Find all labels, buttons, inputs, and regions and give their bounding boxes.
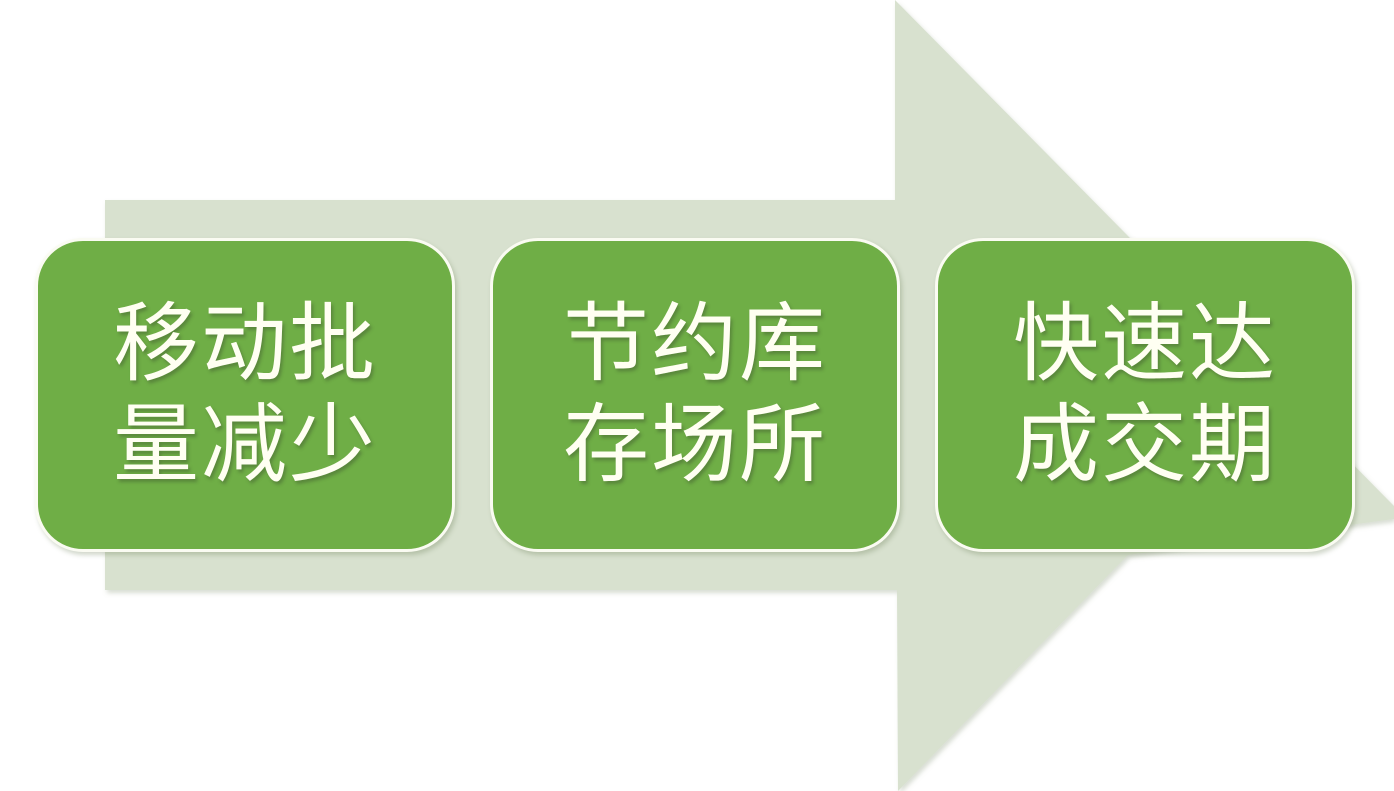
step-box-1-label: 移动批 量减少 — [113, 294, 377, 497]
step-box-1[interactable]: 移动批 量减少 — [35, 238, 455, 552]
step-box-3-label: 快速达 成交期 — [1013, 294, 1277, 497]
step-box-2[interactable]: 节约库 存场所 — [490, 238, 900, 552]
diagram-canvas: 移动批 量减少 节约库 存场所 快速达 成交期 — [0, 0, 1394, 791]
step-boxes: 移动批 量减少 节约库 存场所 快速达 成交期 — [0, 0, 1394, 791]
step-box-3[interactable]: 快速达 成交期 — [935, 238, 1355, 552]
step-box-2-label: 节约库 存场所 — [563, 294, 827, 497]
